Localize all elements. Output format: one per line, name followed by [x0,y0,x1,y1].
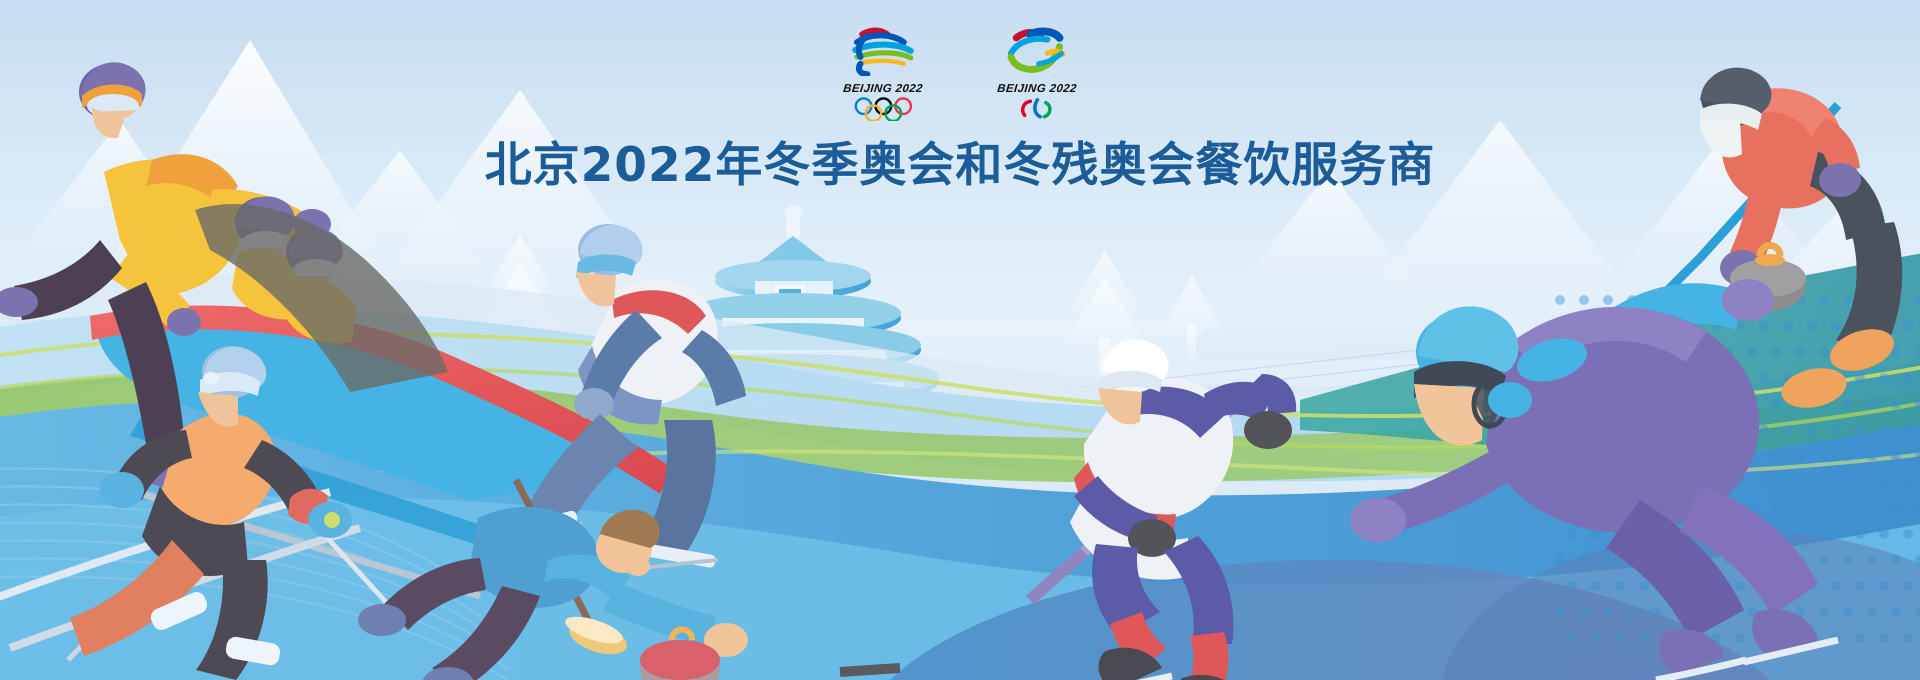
page-title: 北京2022年冬季奥会和冬残奥会餐饮服务商 [0,126,1920,195]
olympic-wordmark: BEIJING 2022 [828,83,937,95]
athlete-speed-skater-right [1350,279,1838,680]
olympic-logo: BEIJING 2022 [829,24,937,126]
dongmeng-emblem [831,24,935,76]
paralympic-agitos-icon [995,97,1080,121]
feiyue-emblem [985,24,1089,76]
paralympic-wordmark: BEIJING 2022 [982,83,1091,95]
logo-row: BEIJING 2022 [0,24,1920,126]
olympic-rings-icon [841,97,926,121]
olympic-banner: BEIJING 2022 [0,0,1920,680]
paralympic-logo: BEIJING 2022 [983,24,1091,126]
athlete-ice-hockey [840,339,1296,680]
